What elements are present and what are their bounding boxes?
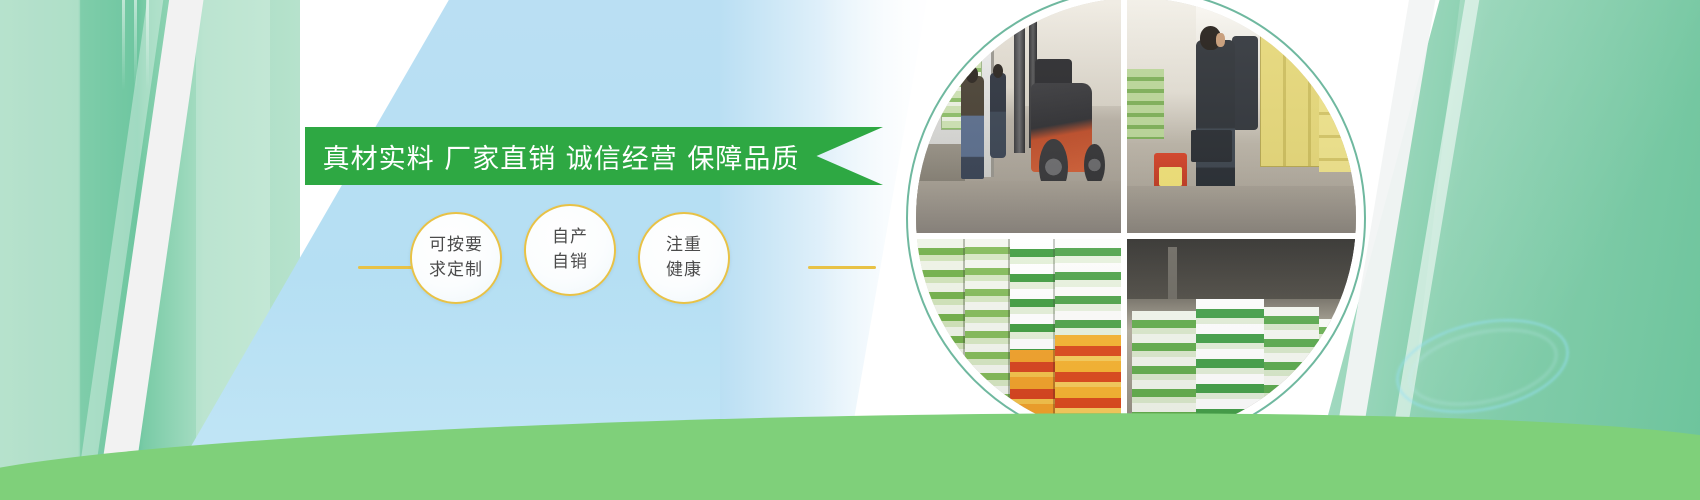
photo-worker-stacking-cartons xyxy=(1127,0,1356,233)
slogan-banner: 真材实料 厂家直销 诚信经营 保障品质 xyxy=(305,127,883,185)
gold-divider-line-right xyxy=(808,266,876,269)
feature-badge-custom-order[interactable]: 可按要 求定制 xyxy=(410,212,502,304)
badge-label-line1: 自产 xyxy=(552,225,588,250)
promo-banner: 真材实料 厂家直销 诚信经营 保障品质 可按要 求定制 自产 自销 注重 健康 xyxy=(0,0,1700,500)
photo-forklift-loading-truck xyxy=(916,0,1121,233)
photo-collage-circle xyxy=(916,0,1356,438)
feature-badge-health-focus[interactable]: 注重 健康 xyxy=(638,212,730,304)
badge-label-line2: 求定制 xyxy=(429,258,483,283)
slogan-text: 真材实料 厂家直销 诚信经营 保障品质 xyxy=(305,127,817,185)
left-panel-stripe xyxy=(122,0,125,90)
badge-label-line1: 可按要 xyxy=(429,233,483,258)
badge-label-line1: 注重 xyxy=(666,233,702,258)
badge-label-line2: 自销 xyxy=(552,250,588,275)
photo-warehouse-pallets xyxy=(1127,239,1356,438)
feature-badge-row: 可按要 求定制 自产 自销 注重 健康 xyxy=(410,204,810,324)
photo-stacked-product-cases xyxy=(916,239,1121,438)
badge-label-line2: 健康 xyxy=(666,258,702,283)
left-panel-band xyxy=(0,0,80,500)
feature-badge-self-production[interactable]: 自产 自销 xyxy=(524,204,616,296)
